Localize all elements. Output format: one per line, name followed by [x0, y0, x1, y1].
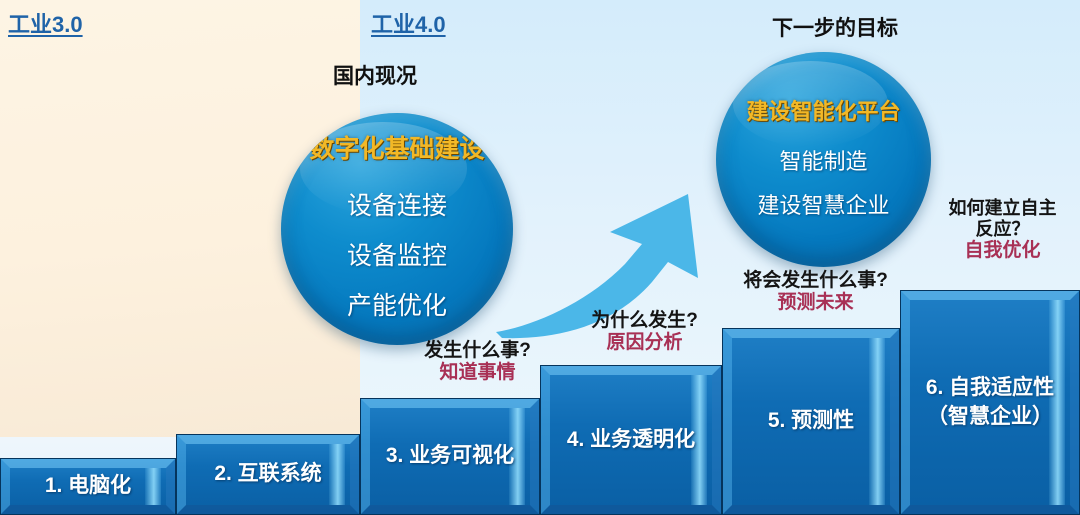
annotation-6-question-line-1: 如何建立自主: [925, 198, 1080, 219]
stair-step-3-label: 3. 业务可视化: [370, 442, 530, 470]
era-label-industry-3: 工业3.0: [8, 7, 83, 39]
circle-left-line-1: 设备连接: [347, 186, 447, 222]
annotation-5-answer: 预测未来: [733, 292, 898, 314]
circle-intelligent-platform: 建设智能化平台 智能制造 建设智慧企业: [716, 52, 931, 267]
heading-domestic-status: 国内现况: [333, 60, 417, 90]
era-label-industry-4: 工业4.0: [371, 7, 446, 39]
annotation-4-question: 为什么发生?: [577, 310, 712, 332]
circle-right-line-2: 建设智慧企业: [757, 188, 889, 220]
annotation-4-answer: 原因分析: [577, 332, 712, 354]
circle-left-line-3: 产能优化: [347, 286, 447, 322]
circle-left-title: 数字化基础建设: [309, 129, 484, 165]
stair-step-4[interactable]: 4. 业务透明化: [540, 365, 722, 515]
stair-step-2-label: 2. 互联系统: [198, 460, 337, 488]
stair-step-6-label-line-2: （智慧企业）: [927, 405, 1053, 428]
circle-digital-foundation: 数字化基础建设 设备连接 设备监控 产能优化: [281, 113, 513, 345]
annotation-5-question: 将会发生什么事?: [733, 270, 898, 292]
stair-step-6-label-line-1: 6. 自我适应性: [926, 376, 1054, 399]
stair-step-4-label: 4. 业务透明化: [551, 426, 711, 454]
annotation-stage-3: 发生什么事? 知道事情: [410, 340, 545, 385]
circle-right-line-1: 智能制造: [779, 144, 867, 176]
stair-step-1-label: 1. 电脑化: [29, 472, 147, 500]
stair-step-2[interactable]: 2. 互联系统: [176, 434, 360, 515]
stair-step-5[interactable]: 5. 预测性: [722, 328, 900, 515]
annotation-3-question: 发生什么事?: [410, 340, 545, 362]
annotation-stage-5: 将会发生什么事? 预测未来: [733, 270, 898, 315]
circle-left-line-2: 设备监控: [347, 236, 447, 272]
stair-step-6[interactable]: 6. 自我适应性 （智慧企业）: [900, 290, 1080, 515]
heading-next-goal: 下一步的目标: [772, 12, 898, 42]
stair-step-5-label: 5. 预测性: [752, 407, 870, 435]
stair-step-6-label: 6. 自我适应性 （智慧企业）: [910, 374, 1070, 431]
circle-right-title: 建设智能化平台: [746, 94, 900, 126]
annotation-6-answer: 自我优化: [925, 240, 1080, 262]
annotation-3-answer: 知道事情: [410, 362, 545, 384]
stair-step-3[interactable]: 3. 业务可视化: [360, 398, 540, 515]
annotation-stage-4: 为什么发生? 原因分析: [577, 310, 712, 355]
infographic-canvas: 工业3.0 工业4.0 国内现况 下一步的目标 数字化基础建设 设备连接 设备监…: [0, 0, 1080, 515]
stair-step-1[interactable]: 1. 电脑化: [0, 458, 176, 515]
annotation-stage-6: 如何建立自主 反应？ 自我优化: [925, 198, 1080, 263]
annotation-6-question-line-2: 反应？: [925, 219, 1080, 240]
